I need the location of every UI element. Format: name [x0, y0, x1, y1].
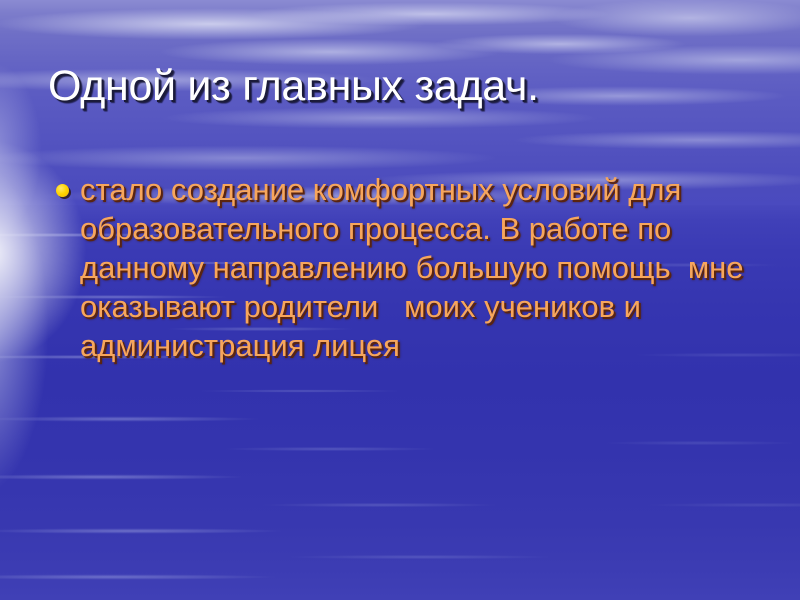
slide-title: Одной из главных задач.: [48, 62, 748, 110]
presentation-slide: Одной из главных задач. стало создание к…: [0, 0, 800, 600]
bullet-point-icon: [56, 184, 69, 197]
slide-body: стало создание комфортных условий для об…: [56, 170, 756, 365]
bullet-item-text: стало создание комфортных условий для об…: [80, 170, 756, 365]
bullet-list-item: стало создание комфортных условий для об…: [56, 170, 756, 365]
